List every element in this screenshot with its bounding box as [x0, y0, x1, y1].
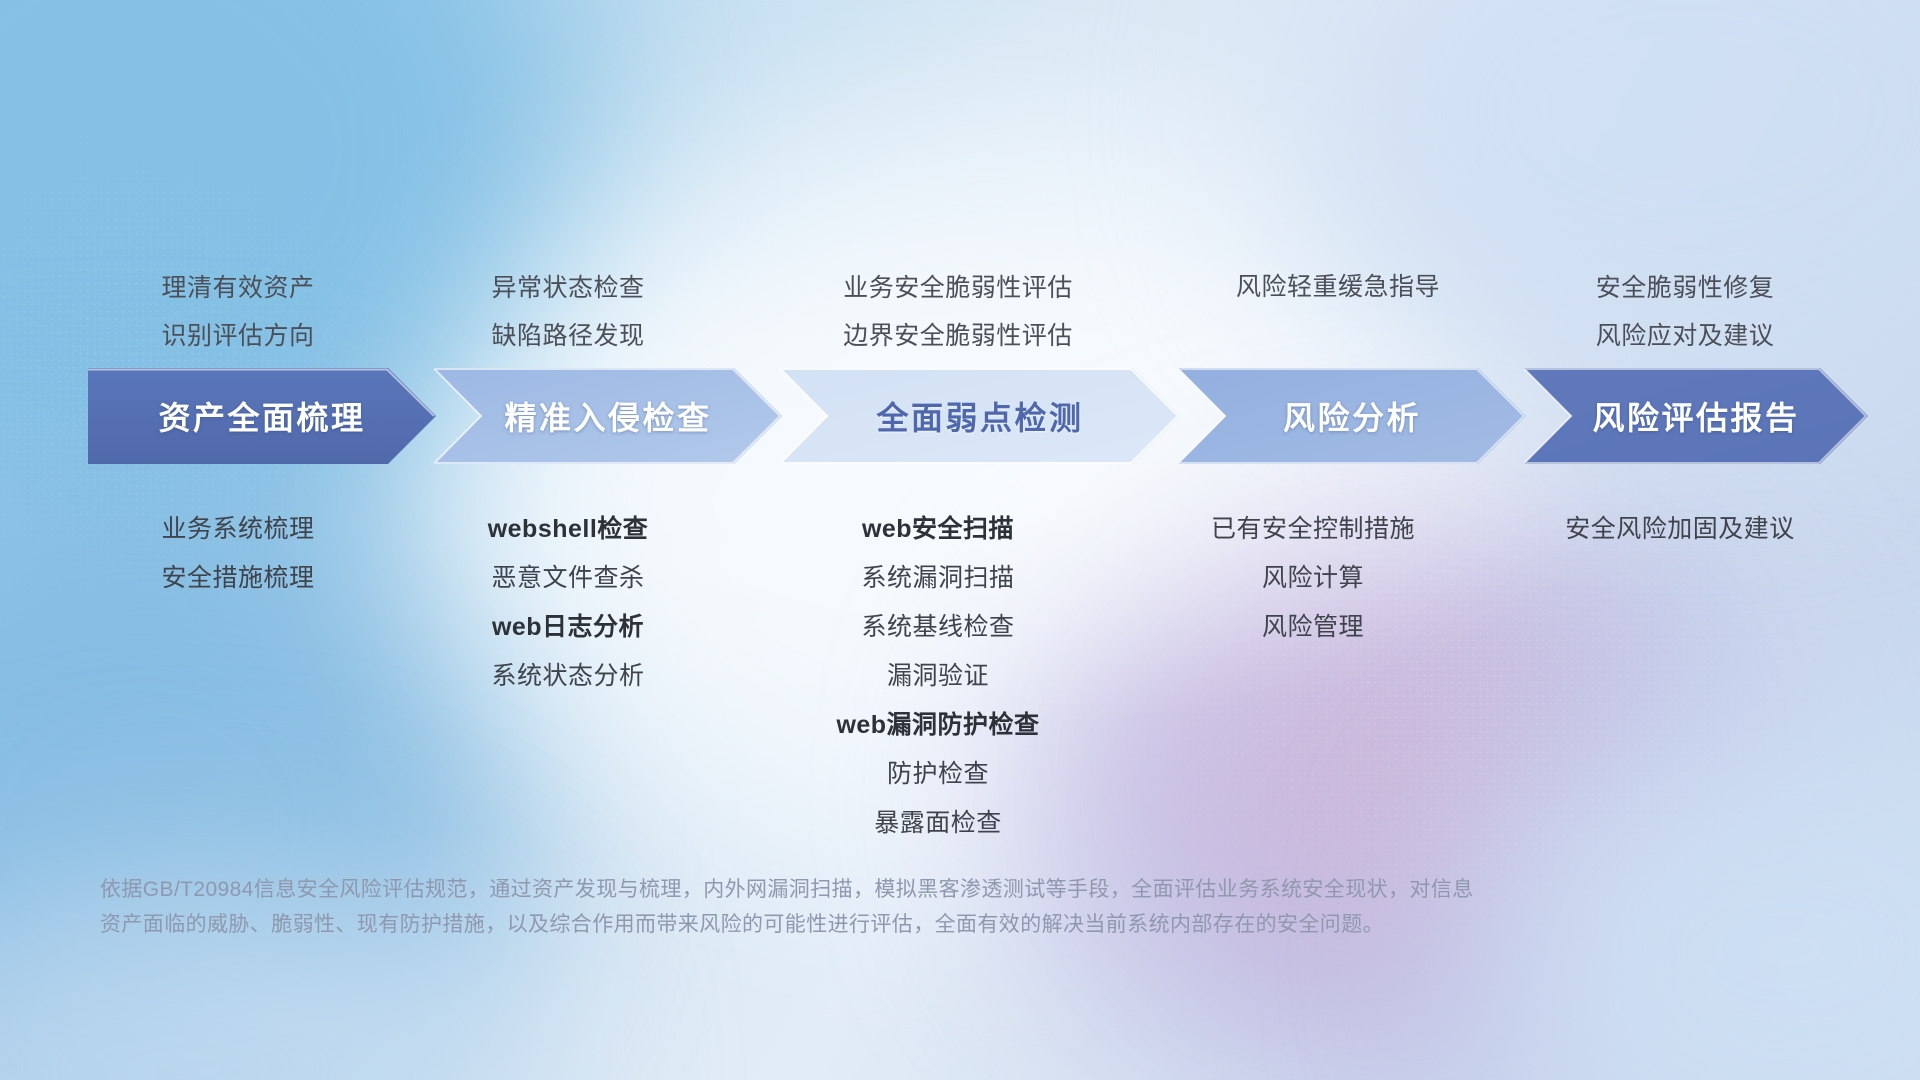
stage-3-activity: 暴露面检查: [758, 799, 1118, 848]
footer-note-line-2: 资产面临的威胁、脆弱性、现有防护措施，以及综合作用而带来风险的可能性进行评估，全…: [100, 907, 1730, 942]
process-arrow-band: 资产全面梳理 精准入侵检查: [88, 368, 1868, 464]
stage-2-activity: 恶意文件查杀: [418, 554, 718, 603]
stage-5-label: 风险评估报告: [1592, 393, 1799, 439]
stage-4-activity: 风险计算: [1138, 554, 1488, 603]
stage-1-activity: 安全措施梳理: [88, 554, 388, 603]
stage-3-activity: web漏洞防护检查: [758, 701, 1118, 750]
stage-2-activity: webshell检查: [418, 505, 718, 554]
stage-3-arrow[interactable]: 全面弱点检测: [780, 368, 1180, 464]
stage-5-activity: 安全风险加固及建议: [1480, 505, 1880, 554]
stage-2-outputs-column: 异常状态检查 缺陷路径发现: [418, 220, 718, 360]
stage-5-output: 安全脆弱性修复: [1500, 264, 1870, 312]
stage-1-outputs-column: 理清有效资产 识别评估方向: [88, 220, 388, 360]
stage-3-outputs-column: 业务安全脆弱性评估 边界安全脆弱性评估: [768, 220, 1148, 360]
stage-3-activity: 系统漏洞扫描: [758, 554, 1118, 603]
stage-5-output: 风险应对及建议: [1500, 312, 1870, 360]
stage-3-output: 业务安全脆弱性评估: [768, 264, 1148, 312]
stage-1-output: 理清有效资产: [88, 264, 388, 312]
diagram-content: 理清有效资产 识别评估方向 异常状态检查 缺陷路径发现 业务安全脆弱性评估 边界…: [0, 0, 1920, 1080]
slide-canvas: 理清有效资产 识别评估方向 异常状态检查 缺陷路径发现 业务安全脆弱性评估 边界…: [0, 0, 1920, 1080]
stage-2-output: 异常状态检查: [418, 264, 718, 312]
stage-4-activity: 风险管理: [1138, 603, 1488, 652]
stage-1-output: 识别评估方向: [88, 312, 388, 360]
footer-note: 依据GB/T20984信息安全风险评估规范，通过资产发现与梳理，内外网漏洞扫描，…: [100, 872, 1730, 942]
stage-4-activity: 已有安全控制措施: [1138, 505, 1488, 554]
stage-1-label: 资产全面梳理: [158, 393, 365, 439]
stage-3-activity: web安全扫描: [758, 505, 1118, 554]
stage-5-outputs-column: 安全脆弱性修复 风险应对及建议: [1500, 220, 1870, 360]
stage-1-arrow[interactable]: 资产全面梳理: [88, 368, 436, 464]
stage-2-activity: web日志分析: [418, 603, 718, 652]
stage-1-activity: 业务系统梳理: [88, 505, 388, 554]
stage-3-activity: 系统基线检查: [758, 603, 1118, 652]
stage-2-arrow[interactable]: 精准入侵检查: [434, 368, 782, 464]
stage-4-label: 风险分析: [1283, 393, 1421, 439]
footer-note-line-1: 依据GB/T20984信息安全风险评估规范，通过资产发现与梳理，内外网漏洞扫描，…: [100, 872, 1730, 907]
stage-3-activity: 漏洞验证: [758, 652, 1118, 701]
stage-3-output: 边界安全脆弱性评估: [768, 312, 1148, 360]
stage-3-label: 全面弱点检测: [876, 393, 1083, 439]
stage-2-activity: 系统状态分析: [418, 652, 718, 701]
stage-4-output: 风险轻重缓急指导: [1168, 263, 1508, 311]
stage-2-output: 缺陷路径发现: [418, 312, 718, 360]
stage-4-arrow[interactable]: 风险分析: [1178, 368, 1526, 464]
stage-3-activity: 防护检查: [758, 750, 1118, 799]
stage-2-label: 精准入侵检查: [504, 393, 711, 439]
stage-4-outputs-column: 风险轻重缓急指导: [1168, 220, 1508, 360]
stage-5-arrow[interactable]: 风险评估报告: [1524, 368, 1868, 464]
